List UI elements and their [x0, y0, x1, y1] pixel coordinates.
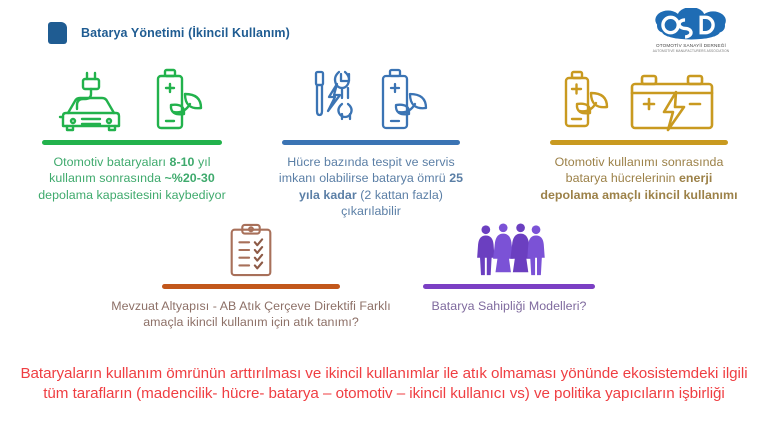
card-text: Otomotiv kullanımı sonrasında batarya hü… [536, 154, 742, 203]
card-text: Hücre bazında tespit ve servis imkanı ol… [272, 154, 470, 220]
card-text: Batarya Sahipliği Modelleri? [398, 298, 620, 314]
card-text: Otomotiv bataryaları 8-10 yıl kullanım s… [34, 154, 230, 203]
card-cell-service-life: Hücre bazında tespit ve servis imkanı ol… [272, 58, 470, 220]
eco-battery-leaf-icon [558, 64, 616, 136]
slide-header: Batarya Yönetimi (İkincil Kullanım) [48, 22, 290, 44]
clipboard-checklist-icon [224, 222, 278, 278]
logo-line-1: OTOMOTİV SANAYİİ DERNEĞİ [632, 43, 750, 48]
logo-line-2: AUTOMOTIVE MANUFACTURERS ASSOCIATION [632, 49, 750, 53]
card-icons [272, 58, 470, 136]
group-of-people-icon [473, 222, 545, 278]
card-ownership-models: Batarya Sahipliği Modelleri? [398, 222, 620, 314]
osd-logo-mark [640, 8, 742, 42]
card-icons [34, 58, 230, 136]
footer-conclusion-text: Bataryaların kullanım ömrünün arttırılma… [14, 364, 754, 404]
card-battery-degradation: Otomotiv bataryaları 8-10 yıl kullanım s… [34, 58, 230, 203]
car-battery-bolt-icon [624, 64, 720, 136]
page-title: Batarya Yönetimi (İkincil Kullanım) [81, 26, 290, 40]
eco-battery-leaf-icon [375, 64, 437, 136]
card-divider-bar [42, 140, 222, 145]
screwdriver-wrench-bolt-icon [305, 64, 367, 136]
card-icons [398, 222, 620, 278]
card-regulatory-framework: Mevzuat Altyapısı - AB Atık Çerçeve Dire… [108, 222, 394, 331]
osd-logo: OTOMOTİV SANAYİİ DERNEĞİ AUTOMOTIVE MANU… [632, 8, 750, 53]
card-icons [108, 222, 394, 278]
electric-car-plug-icon [54, 64, 140, 136]
card-icons [536, 58, 742, 136]
card-divider-bar [282, 140, 460, 145]
card-divider-bar [423, 284, 595, 289]
card-second-life-storage: Otomotiv kullanımı sonrasında batarya hü… [536, 58, 742, 203]
rounded-square-icon [48, 22, 67, 44]
card-divider-bar [162, 284, 340, 289]
card-divider-bar [550, 140, 728, 145]
eco-battery-leaf-icon [148, 64, 210, 136]
card-text: Mevzuat Altyapısı - AB Atık Çerçeve Dire… [108, 298, 394, 331]
slide-canvas: Batarya Yönetimi (İkincil Kullanım) OTOM… [0, 0, 768, 428]
